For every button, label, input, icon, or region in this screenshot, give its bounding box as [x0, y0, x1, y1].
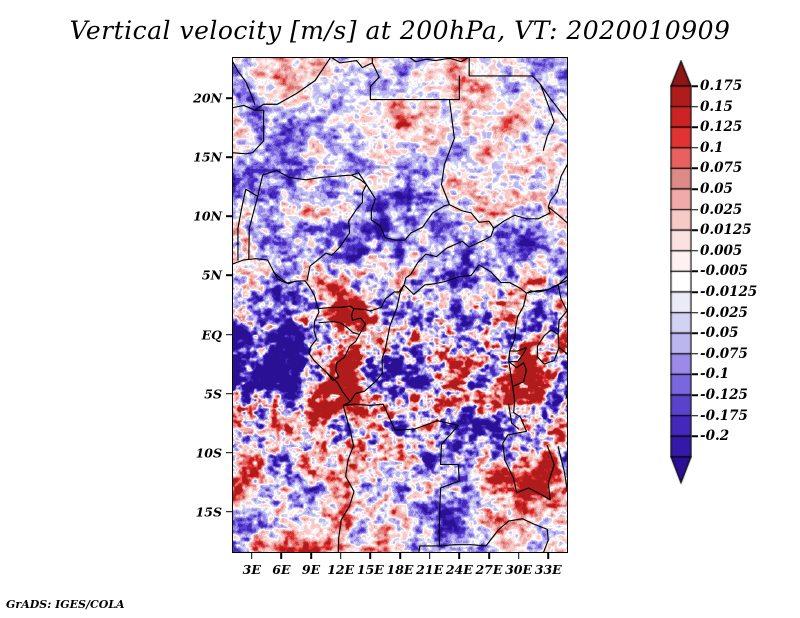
y-axis-tick-label: 5S	[204, 386, 222, 401]
y-axis-tick-mark	[226, 511, 232, 513]
colorbar-tick-label: 0.005	[700, 243, 742, 259]
colorbar-tick-label: -0.1	[700, 366, 729, 382]
colorbar-tick-mark	[692, 188, 698, 190]
x-axis-tick-mark	[429, 553, 431, 559]
y-axis-tick-mark	[226, 216, 232, 218]
y-axis-tick-label: 15S	[196, 504, 222, 519]
colorbar-tick-label: -0.0125	[700, 284, 757, 300]
x-axis-tick-mark	[340, 553, 342, 559]
x-axis-tick-mark	[458, 553, 460, 559]
x-axis-tick-label: 24E	[446, 562, 473, 577]
colorbar-tick-label: -0.175	[700, 408, 748, 424]
colorbar-tick-label: 0.15	[700, 99, 733, 115]
y-axis-tick-label: 20N	[193, 91, 222, 106]
map-plot-area	[232, 57, 568, 553]
x-axis-tick-mark	[310, 553, 312, 559]
y-axis-tick-mark	[226, 452, 232, 454]
x-axis-tick-label: 30E	[505, 562, 532, 577]
colorbar-tick-mark	[692, 332, 698, 334]
x-axis-tick-mark	[251, 553, 253, 559]
colorbar-tick-label: -0.125	[700, 387, 748, 403]
y-axis-tick-mark	[226, 393, 232, 395]
colorbar-tick-label: 0.025	[700, 202, 742, 218]
x-axis-tick-label: 3E	[243, 562, 261, 577]
colorbar-tick-mark	[692, 209, 698, 211]
colorbar-tick-mark	[692, 168, 698, 170]
colorbar-tick-mark	[692, 291, 698, 293]
colorbar-tick-label: 0.1	[700, 140, 724, 156]
x-axis-tick-label: 21E	[416, 562, 443, 577]
y-axis-tick-mark	[226, 98, 232, 100]
colorbar-tick-mark	[692, 312, 698, 314]
x-axis-tick-mark	[370, 553, 372, 559]
x-axis-tick-label: 6E	[272, 562, 290, 577]
x-axis-tick-label: 18E	[387, 562, 414, 577]
page-title: Vertical velocity [m/s] at 200hPa, VT: 2…	[0, 16, 800, 45]
colorbar-tick-label: -0.025	[700, 305, 748, 321]
colorbar-tick-mark	[692, 353, 698, 355]
colorbar-gradient	[670, 60, 692, 485]
colorbar-tick-label: 0.125	[700, 119, 742, 135]
x-axis-tick-mark	[488, 553, 490, 559]
x-axis-tick-label: 15E	[357, 562, 384, 577]
x-axis-tick-label: 12E	[327, 562, 354, 577]
colorbar-tick-label: 0.05	[700, 181, 733, 197]
x-axis-tick-label: 9E	[302, 562, 320, 577]
x-axis-tick-label: 33E	[535, 562, 562, 577]
colorbar-tick-label: -0.005	[700, 263, 748, 279]
colorbar-tick-mark	[692, 147, 698, 149]
colorbar-tick-mark	[692, 250, 698, 252]
y-axis-tick-label: 10S	[196, 445, 222, 460]
country-borders-overlay	[232, 57, 568, 553]
credit-label: GrADS: IGES/COLA	[6, 598, 125, 611]
x-axis-tick-label: 27E	[475, 562, 502, 577]
y-axis-tick-label: 15N	[193, 150, 222, 165]
colorbar-tick-label: -0.2	[700, 428, 729, 444]
colorbar-tick-mark	[692, 271, 698, 273]
x-axis-tick-mark	[518, 553, 520, 559]
colorbar-tick-mark	[692, 374, 698, 376]
colorbar-tick-mark	[692, 435, 698, 437]
y-axis-tick-mark	[226, 334, 232, 336]
colorbar-tick-label: 0.175	[700, 78, 742, 94]
y-axis-tick-mark	[226, 275, 232, 277]
y-axis-tick-label: 10N	[193, 209, 222, 224]
colorbar-tick-label: -0.05	[700, 325, 738, 341]
x-axis-tick-mark	[547, 553, 549, 559]
colorbar-tick-mark	[692, 106, 698, 108]
y-axis-tick-label: 5N	[202, 268, 222, 283]
x-axis-tick-mark	[399, 553, 401, 559]
colorbar-tick-mark	[692, 126, 698, 128]
colorbar-tick-label: -0.075	[700, 346, 748, 362]
y-axis-tick-label: EQ	[202, 327, 222, 342]
y-axis-tick-mark	[226, 157, 232, 159]
colorbar-tick-label: 0.0125	[700, 222, 752, 238]
x-axis-tick-mark	[281, 553, 283, 559]
colorbar-tick-mark	[692, 394, 698, 396]
colorbar-tick-mark	[692, 229, 698, 231]
colorbar-tick-mark	[692, 85, 698, 87]
colorbar-tick-label: 0.075	[700, 160, 742, 176]
colorbar-tick-mark	[692, 415, 698, 417]
